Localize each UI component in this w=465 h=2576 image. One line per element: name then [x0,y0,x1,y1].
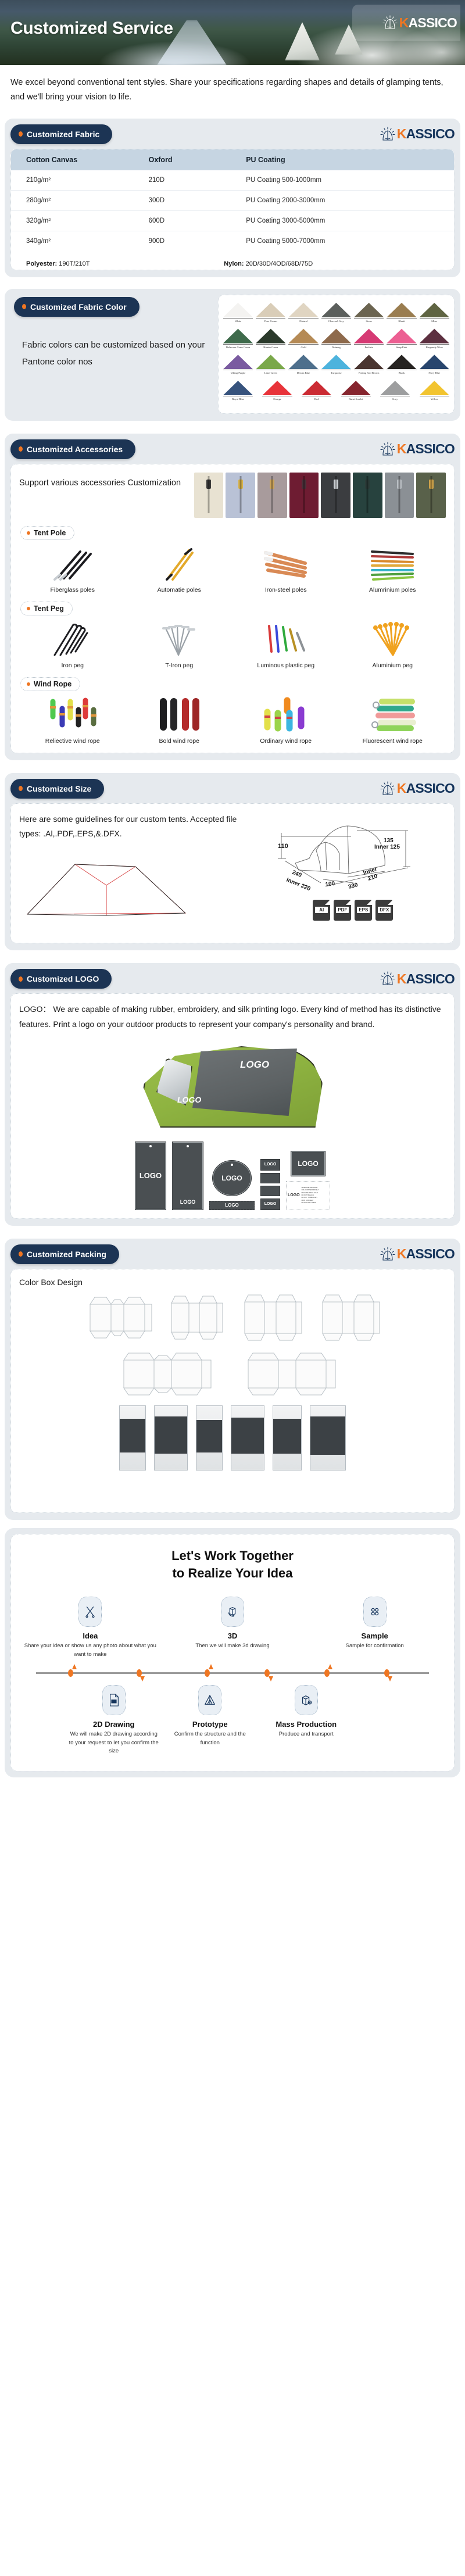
accessory-caption: Alumrinium poles [339,586,446,593]
swatch-label: Delaware Grass Green [223,346,253,349]
color-swatch[interactable]: Hunter Green [256,328,285,349]
care-line: MACHINE WASH COLD [302,1192,328,1194]
swatch-triangle [420,354,449,369]
file-type-label: PDF [336,907,349,913]
section-title-pill: Customized LOGO [10,969,112,989]
brand-k: K [397,126,406,141]
aluminium-image [343,545,443,583]
section-title-pill: Customized Size [10,779,104,799]
section-customized-packing: Customized Packing KASSICO Color Box Des… [5,1239,460,1520]
swatch-triangle [354,302,384,317]
brand-logo: KASSICO [379,971,455,987]
swatch-triangle [262,380,292,395]
swatch-triangle [223,380,253,395]
size-right: 110 135 Inner 125 240 Inner 220 100 Inne… [260,812,446,935]
tent-icon [198,1685,221,1715]
swatch-triangle [288,354,318,369]
step-name: Sample [306,1632,443,1640]
swatch-baseline [387,370,416,370]
process-step-prototype: Prototype Confirm the structure and the … [162,1685,259,1756]
hero-tent-large [285,22,320,60]
fabric-color-left: Customized Fabric Color Fabric colors ca… [10,295,212,414]
section-header: Customized Accessories KASSICO [10,439,455,459]
color-swatch[interactable]: Grey [380,380,410,401]
carton-dieline-3 [237,1293,306,1343]
swatch-baseline [321,318,351,319]
svg-text:100: 100 [324,881,335,888]
swatch-baseline [262,396,292,396]
color-swatch[interactable]: Natural [288,302,318,323]
color-swatch[interactable]: Turquoise [321,354,351,375]
swatch-label: Snap Pink [387,346,416,349]
color-box-diagrams [19,1293,446,1471]
accessory-item[interactable]: Ordinary wind rope [233,695,339,745]
hang-tag-tall-1: LOGO [135,1142,166,1210]
svg-text:Inner 220: Inner 220 [285,876,311,892]
brand-logo: KASSICO [379,126,455,142]
step-name: Prototype [164,1720,256,1729]
tag-label: LOGO [221,1174,242,1182]
color-swatch[interactable]: Delaware Grass Green [223,328,253,349]
care-label-group: LOGO LOGO WASH AND DRY DARKCOLOURS SEPAR… [286,1151,330,1210]
timeline-arrow-up [72,1664,77,1669]
brand-logo: KASSICO [379,781,455,797]
swatch-triangle [387,354,416,369]
section-title: Customized LOGO [27,974,99,983]
package-box-6 [310,1405,346,1471]
swatch-label: Yellow [420,398,449,401]
color-swatch[interactable]: Royal Blue [223,380,253,401]
bullet-dot-icon [22,304,26,309]
zipper-sample[interactable] [416,473,446,518]
step-desc: Sample for confirmation [306,1642,443,1651]
tag-label: LOGO [225,1203,239,1208]
bullet-dot-icon [19,976,23,982]
swatch-triangle [420,380,449,395]
swatch-baseline [380,396,410,396]
accessory-item[interactable]: Aluminium peg [339,619,446,669]
table-row: 320g/m²600DPU Coating 3000-5000mm [11,210,454,231]
brand-k: K [397,781,406,796]
timeline-arrow-down [140,1676,145,1681]
color-swatch[interactable]: Yellow [420,380,449,401]
process-step-idea: Idea Share your idea or show us any phot… [19,1597,162,1659]
fluorescent-image [343,696,443,734]
section-header: Customized Size KASSICO [10,779,455,799]
swatch-triangle [354,354,384,369]
timeline-arrow-up [328,1664,332,1669]
color-swatch[interactable]: Pure Cream [256,302,285,323]
timeline-bar [36,1672,428,1674]
care-label-logo: LOGO [288,1193,300,1197]
woven-label-strip: LOGO [209,1201,255,1210]
oval-tag-group: LOGO LOGO [209,1160,255,1210]
swatch-label: Viking Purple [223,371,253,375]
brand-rest: ASSICO [406,971,455,986]
process-steps-bottom: 2D 2D Drawing We will make 2D drawing ac… [19,1685,446,1756]
accessory-item-grid: Fiberglass polesAutomatie polesIron-stee… [19,543,446,593]
color-swatch[interactable]: Moss [420,302,449,323]
swatch-label: Orange [262,398,292,401]
table-header-row: Cotton Canvas Oxford PU Coating [11,149,454,170]
accessory-group-pill-tent-peg[interactable]: Tent Peg [20,602,73,616]
zipper-sample[interactable] [385,473,414,518]
size-row: Here are some guidelines for our custom … [19,812,446,935]
process-timeline [19,1664,446,1681]
accessory-item[interactable]: Fiberglass poles [19,543,126,593]
cell: 300D [144,190,242,210]
swatch-label: Burnt Scarlet [341,398,371,401]
swatch-triangle [420,302,449,317]
accessory-item[interactable]: Reliective wind rope [19,695,126,745]
brand-logo: KASSICO [379,1246,455,1262]
accessory-item[interactable]: Alumrinium poles [339,543,446,593]
swatch-baseline [288,370,318,370]
zipper-pull-icon [365,480,370,489]
section-title: Customized Size [27,784,91,793]
bullet-dot-icon [27,682,30,686]
tag-label: LOGO [264,1202,277,1206]
hero-banner: Customized Service KASSICO [0,0,465,65]
size-left: Here are some guidelines for our custom … [19,812,256,935]
zipper-sample[interactable] [226,473,255,518]
accessory-item[interactable]: Iron peg [19,619,126,669]
tag-label: LOGO [180,1199,196,1205]
section-header: Customized Packing KASSICO [10,1244,455,1264]
bullet-dot-icon [27,607,30,610]
reflective-image [23,696,123,734]
zipper-pull-icon [238,480,243,489]
tent-logo-icon [379,781,396,797]
swatch-row: Viking PurpleLime GreenDenim BlueTurquoi… [223,354,449,375]
ironsteel-image [236,545,336,583]
table-row: 340g/m²900DPU Coating 5000-7000mm [11,231,454,251]
zipper-sample[interactable] [353,473,382,518]
brand-k: K [397,1246,406,1261]
swatch-baseline [288,344,318,345]
step-desc: Produce and transport [260,1730,352,1739]
accessories-top: Support various accessories Customizatio… [19,473,446,518]
brand-k: K [399,15,409,30]
swatch-row: WhitePure CreamNaturalCharcoal GreyStone… [223,302,449,323]
oval-hang-tag: LOGO [212,1160,252,1196]
swatch-label: Nutmeg [321,346,351,349]
color-swatch[interactable]: Charcoal Grey [321,302,351,323]
zipper-strip [194,473,446,518]
svg-text:330: 330 [348,882,359,890]
swatch-label: Potting Soil Brown [354,371,384,375]
swatch-triangle [288,302,318,317]
process-step-2d-drawing: 2D 2D Drawing We will make 2D drawing ac… [66,1685,162,1756]
swatch-baseline [387,344,416,345]
zipper-pull-icon [270,480,274,489]
four-dots-icon [363,1597,387,1627]
color-swatch[interactable]: Gold [288,328,318,349]
accessory-item[interactable]: T-Iron peg [126,619,233,669]
section-title: Customized Fabric [27,130,99,139]
swatch-label: Khaki [387,320,416,323]
swatch-baseline [302,396,331,396]
color-swatch[interactable]: Nutmeg [321,328,351,349]
ordinary-image [236,696,336,734]
zipper-pull-icon [429,480,434,489]
color-swatch[interactable]: Fuchsia [354,328,384,349]
brand-logo-hero: KASSICO [352,5,460,41]
care-instruction-label: LOGO WASH AND DRY DARKCOLOURS SEPARATELY… [286,1181,330,1210]
color-swatch[interactable]: Navy Blue [420,354,449,375]
swatch-triangle [321,302,351,317]
swatch-baseline [354,370,384,370]
swatch-label: Burgundy Wine [420,346,449,349]
care-lines: WASH AND DRY DARKCOLOURS SEPARATELYMACHI… [302,1187,328,1204]
accessory-caption: Iron-steel poles [233,586,339,593]
tag-hole-icon [187,1145,189,1147]
svg-text:110: 110 [278,843,288,850]
accessory-caption: Fluorescent wind rope [339,738,446,745]
accessory-item-grid: Reliective wind ropeBold wind ropeOrdina… [19,695,446,745]
bullet-dot-icon [27,531,30,535]
step-name: Mass Production [260,1720,352,1729]
care-line: DO NOT DRY CLEAN [302,1202,328,1204]
swatch-triangle [256,328,285,344]
cell: 320g/m² [11,210,144,231]
step-name: 2D Drawing [68,1720,160,1729]
accessory-group-label: Tent Peg [34,604,64,613]
footnote-value: 20D/30D/4OD/68D/75D [246,260,313,267]
table-row: 280g/m²300DPU Coating 2000-3000mm [11,190,454,210]
cell: 900D [144,231,242,251]
swatch-label: Lime Green [256,371,285,375]
accessory-caption: Ordinary wind rope [233,738,339,745]
zipper-pull-icon [334,480,338,489]
swatch-baseline [288,318,318,319]
swatch-baseline [256,318,285,319]
accessory-group-pill-tent-pole[interactable]: Tent Pole [20,526,74,540]
cell: PU Coating 500-1000mm [241,170,454,191]
accessories-panel: Support various accessories Customizatio… [10,464,455,753]
swatch-label: Navy Blue [420,371,449,375]
hang-tag-tall-2: LOGO [172,1142,203,1210]
tent-logo-print-top: LOGO [240,1059,269,1071]
swatch-label: Stone [354,320,384,323]
cell: 210g/m² [11,170,144,191]
process-steps-top: Idea Share your idea or show us any phot… [19,1597,446,1659]
swatch-baseline [256,344,285,345]
brand-k: K [397,971,406,986]
tironpeg-image [130,620,230,659]
fold-label-mid [260,1173,280,1183]
accessory-group-label: Tent Pole [34,529,66,537]
step-desc: Share your idea or show us any photo abo… [22,1642,159,1659]
intro-paragraph: We excel beyond conventional tent styles… [0,65,465,113]
column-header: Oxford [144,149,242,170]
tag-label: LOGO [139,1171,162,1180]
tag-label: LOGO [264,1162,277,1167]
bullet-dot-icon [19,446,23,452]
footnote-polyester: Polyester: 190T/210T [26,260,218,267]
tent-blueprint-drawing [19,845,211,932]
column-header: PU Coating [241,149,454,170]
accessory-item[interactable]: Bold wind rope [126,695,233,745]
process-step-sample: Sample Sample for confirmation [303,1597,446,1659]
zipper-pull-icon [302,480,306,489]
cell: 210D [144,170,242,191]
brand-rest: ASSICO [406,781,455,796]
section-customized-fabric-color: Customized Fabric Color Fabric colors ca… [5,289,460,421]
swatch-triangle [420,328,449,344]
carton-dieline-1 [81,1293,156,1343]
automatic-image [130,545,230,583]
swatch-triangle [256,354,285,369]
fabric-table: Cotton Canvas Oxford PU Coating 210g/m²2… [11,149,454,251]
cell: PU Coating 3000-5000mm [241,210,454,231]
swatch-row: Delaware Grass GreenHunter GreenGoldNutm… [223,328,449,349]
steps-bottom-spacer [355,1685,446,1756]
accessories-blurb: Support various accessories Customizatio… [19,473,187,491]
accessory-caption: Fiberglass poles [19,586,126,593]
accessory-caption: Bold wind rope [126,738,233,745]
page-title: Customized Service [10,19,173,38]
step-name: Idea [22,1632,159,1640]
swatch-baseline [420,396,449,396]
process-title-line2: to Realize Your Idea [19,1565,446,1582]
section-title: Customized Packing [27,1250,106,1259]
swatch-baseline [223,318,253,319]
color-swatch[interactable]: Stone [354,302,384,323]
tag-hole-icon [149,1145,152,1147]
brand-rest: ASSICO [406,1246,455,1261]
brand-rest: ASSICO [406,441,455,456]
packing-panel: Color Box Design [10,1269,455,1513]
accessory-item[interactable]: Luminous plastic peg [233,619,339,669]
fold-label-group: LOGO LOGO [260,1159,280,1210]
process-step-3d: 3D Then we will make 3d drawing [162,1597,304,1659]
carton-dieline-4 [314,1293,384,1343]
tent-logo-icon [379,126,396,142]
color-swatch[interactable]: Khaki [387,302,416,323]
swatch-triangle [223,302,253,317]
svg-text:2D: 2D [112,1700,116,1704]
accessory-group-label: Wind Rope [34,680,71,688]
accessory-item[interactable]: Automatie poles [126,543,233,593]
color-swatch[interactable]: Black [387,354,416,375]
carton-dieline-6 [237,1348,353,1400]
color-swatch[interactable]: White [223,302,253,323]
swatch-triangle [288,328,318,344]
accessory-item[interactable]: Fluorescent wind rope [339,695,446,745]
tent-logo-icon [379,1246,396,1262]
accessory-group-pill-wind-rope[interactable]: Wind Rope [20,677,80,691]
swatch-label: Fuchsia [354,346,384,349]
color-swatch[interactable]: Denim Blue [288,354,318,375]
file-type-pdf-icon: PDF [334,900,351,921]
swatch-baseline [223,396,253,396]
timeline-marker [68,1669,73,1677]
process-step-mass-production: Mass Production Produce and transport [258,1685,355,1756]
tent-logo-print-side: LOGO [177,1095,201,1104]
color-swatch[interactable]: Potting Soil Brown [354,354,384,375]
swatch-triangle [223,328,253,344]
color-swatch[interactable]: Viking Purple [223,354,253,375]
section-header: Customized LOGO KASSICO [10,969,455,989]
carton-row-1 [81,1293,384,1343]
swatch-baseline [223,344,253,345]
file-type-eps-icon: EPS [355,900,372,921]
accessory-groups: Tent PoleFiberglass polesAutomatie poles… [19,518,446,745]
swatch-triangle [321,328,351,344]
box-gear-icon [295,1685,318,1715]
swatch-label: Hunter Green [256,346,285,349]
color-swatch[interactable]: Burnt Scarlet [341,380,371,401]
svg-text:Inner 125: Inner 125 [374,844,400,850]
swatch-baseline [321,344,351,345]
zipper-sample[interactable] [321,473,350,518]
swatch-baseline [354,344,384,345]
packed-box-row [119,1405,346,1471]
size-panel: Here are some guidelines for our custom … [10,803,455,943]
fabric-panel: Cotton Canvas Oxford PU Coating 210g/m²2… [10,149,455,270]
section-title-pill: Customized Packing [10,1244,119,1264]
step-desc: Then we will make 3d drawing [164,1642,302,1651]
swatch-triangle [256,302,285,317]
fold-label-top: LOGO [260,1159,280,1171]
swatch-triangle [387,328,416,344]
zipper-sample[interactable] [289,473,319,518]
packing-subtitle: Color Box Design [19,1278,446,1287]
process-title: Let's Work Together to Realize Your Idea [19,1547,446,1582]
timeline-arrow-down [269,1676,273,1681]
package-box-1 [119,1405,146,1471]
file-type-label: EPS [357,907,370,913]
swatch-baseline [256,370,285,370]
swatch-row: Royal BlueOrangeRedBurnt ScarletGreyYell… [223,380,449,401]
accessory-caption: Luminous plastic peg [233,662,339,669]
zipper-sample[interactable] [194,473,224,518]
accessory-item[interactable]: Iron-steel poles [233,543,339,593]
zipper-sample[interactable] [257,473,287,518]
accessory-caption: Automatie poles [126,586,233,593]
tent-dimension-drawing: 110 135 Inner 125 240 Inner 220 100 Inne… [260,812,435,893]
footnote-label: Nylon: [224,260,244,267]
swatch-triangle [302,380,331,395]
package-box-4 [231,1405,264,1471]
package-box-2 [154,1405,188,1471]
luminouspeg-image [236,620,336,659]
swatch-label: White [223,320,253,323]
alupeg-image [343,620,443,659]
zipper-pull-icon [206,480,211,489]
brand-k: K [397,441,406,456]
accessory-item-grid: Iron pegT-Iron pegLuminous plastic pegAl… [19,619,446,669]
swatch-label: Denim Blue [288,371,318,375]
color-swatch[interactable]: Burgundy Wine [420,328,449,349]
color-swatch[interactable]: Snap Pink [387,328,416,349]
fabric-color-row: Customized Fabric Color Fabric colors ca… [10,295,455,414]
square-patch-label: LOGO [291,1151,325,1176]
color-swatch[interactable]: Lime Green [256,354,285,375]
file-type-icons: AlPDFEPSDFX [260,900,446,921]
swatch-label: Royal Blue [223,398,253,401]
color-swatch-card: WhitePure CreamNaturalCharcoal GreyStone… [218,295,455,414]
fold-label-bot: LOGO [260,1198,280,1210]
color-swatch[interactable]: Orange [262,380,292,401]
swatch-triangle [321,354,351,369]
fabric-footnotes: Polyester: 190T/210T Nylon: 20D/30D/4OD/… [11,251,454,270]
section-header: Customized Fabric KASSICO [10,124,455,144]
file-type-dfx-icon: DFX [375,900,393,921]
swatch-label: Charcoal Grey [321,320,351,323]
color-swatch[interactable]: Red [302,380,331,401]
